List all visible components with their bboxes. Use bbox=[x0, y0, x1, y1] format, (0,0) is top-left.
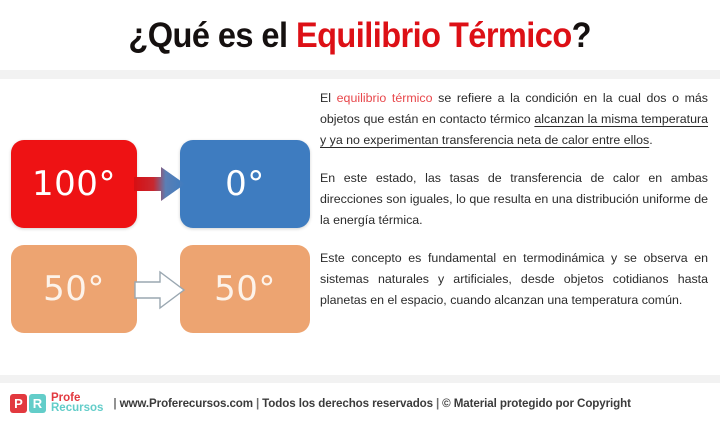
paragraph-state: En este estado, las tasas de transferenc… bbox=[320, 168, 708, 231]
proferecursos-logo[interactable]: P R Profe Recursos bbox=[10, 394, 103, 413]
content-area: 100° 0° 50° 50° bbox=[0, 79, 720, 375]
logo-tile-r-icon: R bbox=[29, 394, 46, 413]
hot-object-temperature-label: 100° bbox=[32, 164, 116, 204]
footer-legal-text: |www.Proferecursos.com|Todos los derecho… bbox=[110, 397, 630, 410]
paragraph-definition: El equilibrio térmico se refiere a la co… bbox=[320, 88, 708, 151]
equilibrium-left-box: 50° bbox=[11, 245, 137, 333]
heat-transfer-arrow-icon bbox=[134, 165, 186, 203]
logo-tile-p-icon: P bbox=[10, 394, 27, 413]
footer-copyright: © Material protegido por Copyright bbox=[442, 397, 631, 410]
logo-word-recursos: Recursos bbox=[51, 404, 103, 414]
page-title-prefix: ¿Qué es el bbox=[129, 16, 297, 55]
description-text-column: El equilibrio térmico se refiere a la co… bbox=[320, 79, 708, 375]
page-title: ¿Qué es el Equilibrio Térmico? bbox=[129, 18, 592, 53]
header-divider bbox=[0, 70, 720, 79]
footer-divider bbox=[0, 375, 720, 383]
equilibrium-left-temperature-label: 50° bbox=[43, 269, 105, 309]
cold-object-temperature-label: 0° bbox=[225, 164, 265, 204]
footer-bar: P R Profe Recursos |www.Proferecursos.co… bbox=[0, 383, 720, 424]
thermal-equilibrium-diagram: 100° 0° 50° 50° bbox=[0, 79, 316, 375]
p1-highlight: equilibrio térmico bbox=[337, 91, 433, 105]
footer-separator-2: | bbox=[433, 397, 442, 410]
page-title-accent: Equilibrio Térmico bbox=[296, 16, 572, 55]
equilibrium-right-temperature-label: 50° bbox=[214, 269, 276, 309]
p1-tail: . bbox=[649, 133, 652, 147]
cold-object-box: 0° bbox=[180, 140, 310, 228]
p1-lead: El bbox=[320, 91, 337, 105]
footer-separator-0: | bbox=[110, 397, 119, 410]
page-header: ¿Qué es el Equilibrio Térmico? bbox=[0, 0, 720, 70]
footer-site-link[interactable]: www.Proferecursos.com bbox=[120, 397, 253, 410]
hot-object-box: 100° bbox=[11, 140, 137, 228]
footer-rights: Todos los derechos reservados bbox=[262, 397, 433, 410]
equilibrium-right-box: 50° bbox=[180, 245, 310, 333]
paragraph-application: Este concepto es fundamental en termodin… bbox=[320, 248, 708, 311]
page-title-suffix: ? bbox=[572, 16, 591, 55]
equilibrium-arrow-icon bbox=[134, 269, 186, 311]
footer-separator-1: | bbox=[253, 397, 262, 410]
logo-wordmark: Profe Recursos bbox=[51, 394, 103, 413]
